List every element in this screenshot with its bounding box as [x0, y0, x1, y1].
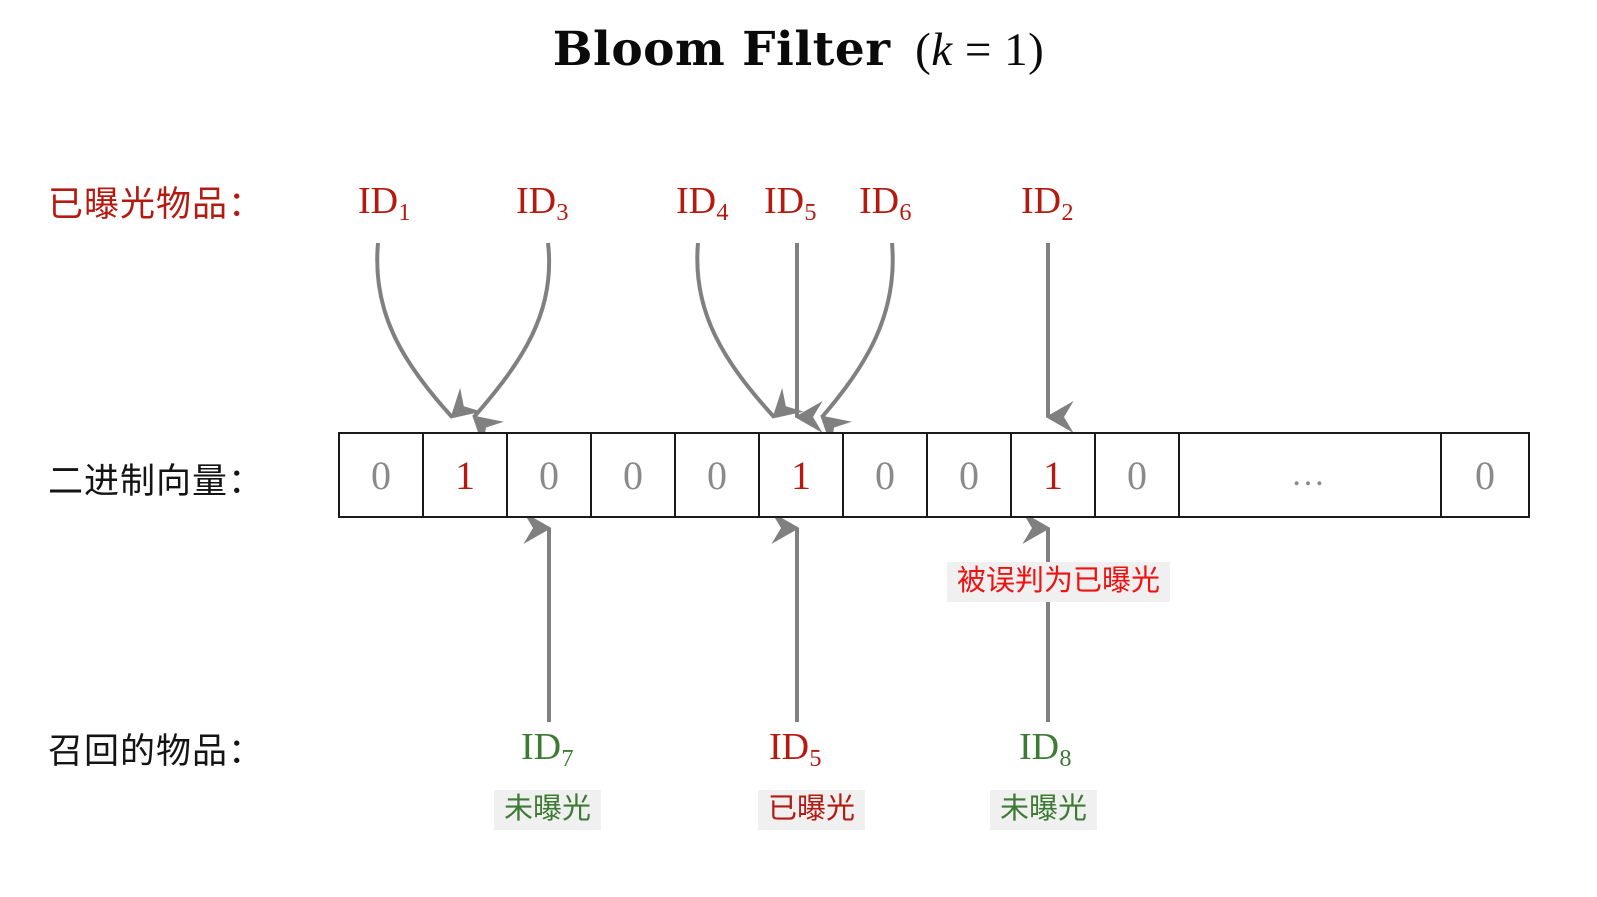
exposed-id-5-subscript: 5	[804, 199, 816, 226]
exposed-id-4-text: ID	[676, 180, 716, 222]
vector-cell-4[interactable]: 0	[676, 434, 760, 516]
label-recalled-items: 召回的物品：	[48, 723, 264, 774]
recalled-id-8-status: 未曝光	[990, 790, 1097, 830]
recalled-id-7-text: ID	[521, 726, 561, 768]
title-paren-open: (	[915, 24, 931, 76]
recalled-id-8: ID8	[1019, 728, 1071, 766]
page-title: Bloom Filter (k = 1)	[0, 22, 1597, 77]
vector-cell-0[interactable]: 0	[340, 434, 424, 516]
exposed-id-3-text: ID	[516, 180, 556, 222]
vector-cell-6[interactable]: 0	[844, 434, 928, 516]
vector-cell-last[interactable]: 0	[1442, 434, 1528, 516]
vector-cell-3[interactable]: 0	[592, 434, 676, 516]
recalled-id-5: ID5	[769, 728, 821, 766]
slide-canvas: Bloom Filter (k = 1) 已曝光物品： 二进制向量： 召回的物品…	[0, 0, 1597, 897]
recalled-id-7: ID7	[521, 728, 573, 766]
vector-cell-8[interactable]: 1	[1012, 434, 1096, 516]
exposed-id-1-subscript: 1	[398, 199, 410, 226]
arrow-id1-to-cell1	[377, 243, 452, 417]
exposed-id-4-subscript: 4	[716, 199, 728, 226]
binary-vector: 0 1 0 0 0 1 0 0 1 0 … 0	[338, 432, 1530, 518]
arrow-id3-to-cell1	[474, 243, 549, 417]
recalled-id-8-text: ID	[1019, 726, 1059, 768]
title-main: Bloom Filter	[553, 22, 891, 77]
false-positive-badge: 被误判为已曝光	[947, 562, 1170, 602]
exposed-id-5-text: ID	[764, 180, 804, 222]
vector-cell-1[interactable]: 1	[424, 434, 508, 516]
exposed-id-2-subscript: 2	[1061, 199, 1073, 226]
recalled-id-5-status: 已曝光	[758, 790, 865, 830]
recalled-id-5-subscript: 5	[809, 745, 821, 772]
recalled-id-7-subscript: 7	[561, 745, 573, 772]
exposed-id-6-text: ID	[859, 180, 899, 222]
recalled-id-8-subscript: 8	[1059, 745, 1071, 772]
exposed-id-3-subscript: 3	[556, 199, 568, 226]
title-paren-close: )	[1028, 24, 1044, 76]
exposed-id-4: ID4	[676, 182, 728, 220]
label-binary-vector: 二进制向量：	[48, 453, 264, 504]
exposed-id-5: ID5	[764, 182, 816, 220]
recalled-id-7-status: 未曝光	[494, 790, 601, 830]
arrow-id6-to-cell5	[822, 243, 893, 417]
recalled-id-5-text: ID	[769, 726, 809, 768]
exposed-id-1-text: ID	[358, 180, 398, 222]
vector-cell-7[interactable]: 0	[928, 434, 1012, 516]
arrow-id4-to-cell5	[697, 243, 774, 417]
vector-cell-9[interactable]: 0	[1096, 434, 1180, 516]
exposed-id-2-text: ID	[1021, 180, 1061, 222]
exposed-id-1: ID1	[358, 182, 410, 220]
exposed-id-2: ID2	[1021, 182, 1073, 220]
vector-cell-5[interactable]: 1	[760, 434, 844, 516]
label-exposed-items: 已曝光物品：	[48, 176, 264, 227]
exposed-id-6-subscript: 6	[899, 199, 911, 226]
exposed-id-6: ID6	[859, 182, 911, 220]
title-param-symbol: k	[931, 24, 952, 76]
vector-cell-2[interactable]: 0	[508, 434, 592, 516]
title-param-value: = 1	[953, 24, 1029, 76]
exposed-id-3: ID3	[516, 182, 568, 220]
vector-cell-ellipsis: …	[1180, 434, 1442, 516]
